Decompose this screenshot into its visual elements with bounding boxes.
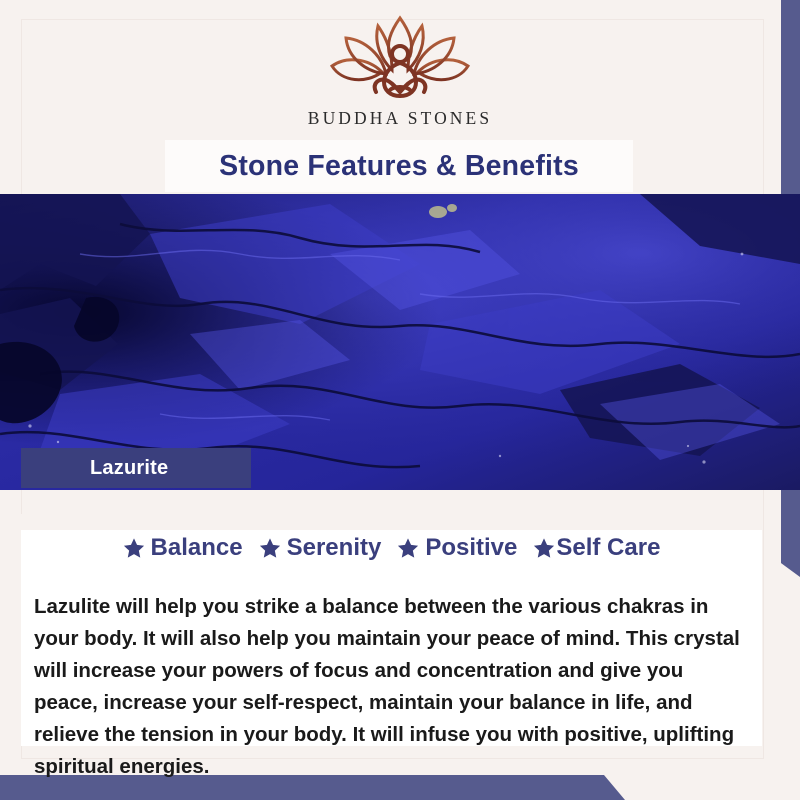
star-icon bbox=[533, 537, 555, 559]
keyword-label: Balance bbox=[151, 536, 243, 560]
brand-name: BUDDHA STONES bbox=[308, 108, 492, 129]
keyword-item-positive: Positive bbox=[397, 536, 517, 560]
keyword-label: Self Care bbox=[556, 536, 660, 560]
stone-description: Lazulite will help you strike a balance … bbox=[34, 591, 746, 783]
keyword-label: Serenity bbox=[287, 536, 382, 560]
lotus-meditation-icon bbox=[316, 14, 484, 106]
poster-root: BUDDHA STONES Stone Features & Benefits bbox=[0, 0, 800, 800]
keyword-list: Balance Serenity Positive Self Care bbox=[21, 536, 762, 560]
star-icon bbox=[259, 537, 281, 559]
star-icon bbox=[397, 537, 419, 559]
lazurite-stone-photo bbox=[0, 194, 800, 490]
content-card: Balance Serenity Positive Self Care bbox=[21, 514, 762, 746]
keyword-label: Positive bbox=[425, 536, 517, 560]
stone-name: Lazurite bbox=[90, 457, 168, 480]
star-icon bbox=[123, 537, 145, 559]
page-title: Stone Features & Benefits bbox=[219, 150, 579, 183]
stone-name-tag: Lazurite bbox=[21, 448, 251, 488]
keyword-item-balance: Balance bbox=[123, 536, 243, 560]
brand-logo: BUDDHA STONES bbox=[0, 14, 800, 144]
card-top-tint bbox=[21, 514, 762, 530]
title-banner: Stone Features & Benefits bbox=[165, 140, 633, 192]
keyword-item-serenity: Serenity bbox=[259, 536, 382, 560]
keyword-item-self-care: Self Care bbox=[533, 536, 660, 560]
